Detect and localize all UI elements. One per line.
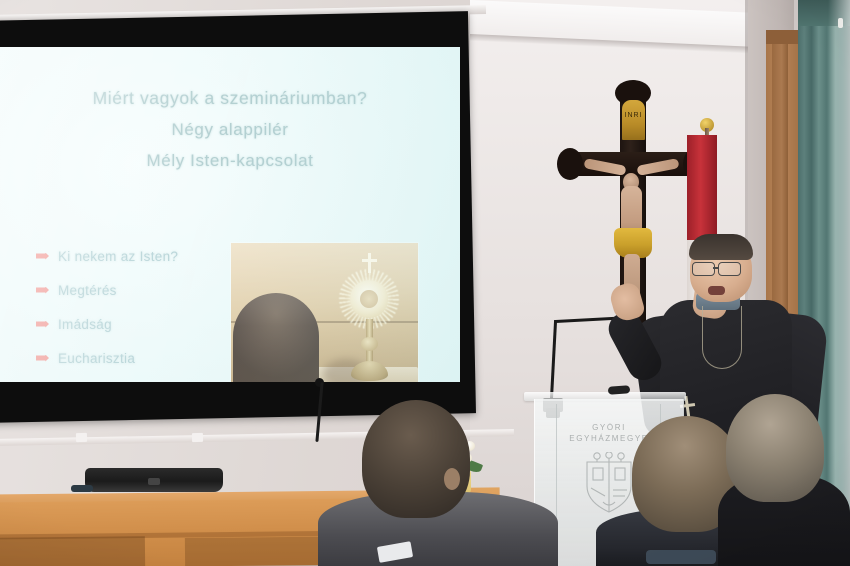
audience-left-ear [444, 468, 460, 490]
slide-section-heading: Mély Isten-kapcsolat [0, 145, 460, 176]
screenshot-scene: INRI Miért vagyok a szemináriumban? Négy… [0, 0, 850, 566]
trunking-clip [192, 433, 203, 442]
bullet-label: Imádság [58, 317, 112, 332]
audience-center-collar [646, 550, 716, 564]
crucifix-lobe-left [557, 148, 583, 180]
inri-plaque: INRI [622, 100, 645, 140]
slide-title: Miért vagyok a szemináriumban? [0, 83, 460, 114]
arrow-bullet-icon [36, 321, 49, 328]
slide-bullet-list: Ki nekem az Isten? Megtérés Imádság Euch… [36, 239, 236, 375]
bullet-label: Eucharisztia [58, 351, 135, 366]
speaker-hair [689, 234, 753, 260]
bullet-label: Ki nekem az Isten? [58, 249, 178, 264]
speaker-glasses-bridge [713, 267, 719, 269]
desk-recess-left [0, 536, 145, 566]
list-item: Imádság [36, 307, 236, 341]
trunking-clip [76, 433, 87, 442]
audience-member-left-head [362, 400, 470, 518]
projected-slide: Miért vagyok a szemináriumban? Négy alap… [0, 47, 460, 382]
speaker-glasses-right-lens [718, 262, 741, 276]
list-item: Ki nekem az Isten? [36, 239, 236, 273]
arrow-bullet-icon [36, 355, 49, 362]
arrow-bullet-icon [36, 287, 49, 294]
speaker-mouth [708, 286, 725, 295]
desk-remote [71, 485, 93, 492]
lectern-remote [608, 385, 631, 395]
lectern-brand-line-1: GYŐRI [556, 422, 662, 433]
pectoral-cross-chain [702, 306, 742, 369]
flag-stripe-red [687, 135, 717, 240]
bullet-label: Megtérés [58, 283, 117, 298]
diocese-coat-of-arms-icon [583, 452, 635, 514]
speaker-glasses-left-lens [692, 262, 715, 276]
slide-subtitle: Négy alappilér [0, 114, 460, 145]
slide-photo-monstrance [231, 243, 418, 382]
audience-member-right-head [726, 394, 824, 502]
slide-heading-block: Miért vagyok a szemináriumban? Négy alap… [0, 83, 460, 176]
list-item: Eucharisztia [36, 341, 236, 375]
photo-haze-overlay [231, 243, 418, 382]
list-item: Megtérés [36, 273, 236, 307]
inri-label: INRI [622, 112, 645, 119]
monitor-stand [148, 478, 160, 485]
arrow-bullet-icon [36, 253, 49, 260]
